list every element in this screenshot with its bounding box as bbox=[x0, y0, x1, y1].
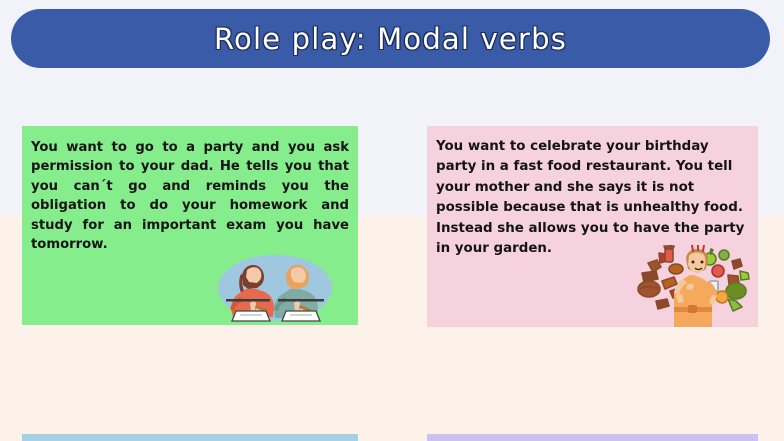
scenario-text-green: You want to go to a party and you ask pe… bbox=[31, 138, 349, 254]
scenario-card-pink[interactable]: You want to celebrate your birthday part… bbox=[427, 126, 758, 327]
page-title: Role play: Modal verbs bbox=[214, 22, 567, 56]
slide-canvas: Role play: Modal verbs You want to go to… bbox=[0, 0, 784, 441]
scenario-card-green[interactable]: You want to go to a party and you ask pe… bbox=[22, 126, 358, 325]
scenario-card-purple-partial[interactable] bbox=[427, 434, 758, 441]
two-students-studying-icon bbox=[216, 253, 334, 323]
scenario-text-pink: You want to celebrate your birthday part… bbox=[436, 137, 750, 259]
scenario-card-blue-partial[interactable] bbox=[22, 434, 358, 441]
person-choosing-food-icon bbox=[632, 245, 752, 327]
title-banner: Role play: Modal verbs bbox=[11, 9, 770, 68]
